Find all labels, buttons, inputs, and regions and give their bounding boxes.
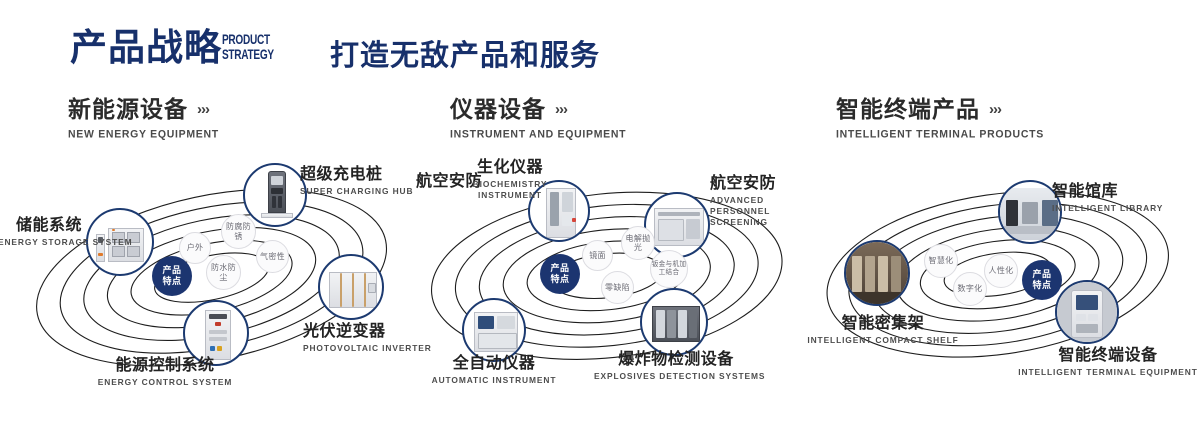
feature-bubble-anticorrosion: 防腐防锈 [221,214,256,249]
feature-bubble-digitalization: 数字化 [953,272,987,306]
poster-header: 产品战略 PRODUCT STRATEGY 打造无敌产品和服务 [0,0,1200,90]
section-title-intelligent-terminal-en: INTELLIGENT TERMINAL PRODUCTS [836,128,1044,141]
label-intelligent-library: 智能馆库 INTELLIGENT LIBRARY [1052,182,1192,214]
feature-bubble-mirror: 镜面 [582,240,613,271]
page-title-english-line2: STRATEGY [222,47,274,62]
page-title: 产品战略 [70,26,222,70]
feature-bubble-humanization: 人性化 [984,254,1018,288]
node-automatic-instrument[interactable] [462,298,526,362]
section-title-new-energy-cn: 新能源设备 [68,96,188,122]
feature-bubble-outdoor: 户外 [179,232,211,264]
feature-bubble-airtight: 气密性 [256,240,289,273]
section-title-new-energy-en: NEW ENERGY EQUIPMENT [68,128,219,141]
label-energy-storage-system: 储能系统 ENERGY STORAGE SYSTEM [0,216,82,248]
chevrons-right-icon: ››› [555,97,567,123]
section-title-instrument-en: INSTRUMENT AND EQUIPMENT [450,128,626,141]
diagram-group-new-energy: 储能系统 ENERGY STORAGE SYSTEM 超级充电桩 SUPER C… [0,150,420,410]
page-subtitle: 打造无敌产品和服务 [330,32,600,74]
energy-control-system-photo [185,302,247,364]
label-intelligent-compact-shelf: 智能密集架 INTELLIGENT COMPACT SHELF [800,314,966,346]
section-title-new-energy: 新能源设备››› NEW ENERGY EQUIPMENT [68,96,219,140]
section-title-instrument: 仪器设备››› INSTRUMENT AND EQUIPMENT [450,96,626,140]
center-badge-intelligent-terminal: 产品 特点 [1022,260,1062,300]
photovoltaic-inverter-photo [320,256,382,318]
explosives-detection-systems-photo [642,290,706,354]
automatic-instrument-photo [464,300,524,360]
node-intelligent-compact-shelf[interactable] [844,240,910,306]
advanced-personnel-screening-photo [646,194,708,256]
feature-bubble-waterproof: 防水防尘 [206,255,241,290]
label-energy-control-system: 能源控制系统 ENERGY CONTROL SYSTEM [25,356,305,388]
label-intelligent-terminal-equipment: 智能终端设备 INTELLIGENT TERMINAL EQUIPMENT [1018,346,1198,378]
node-intelligent-terminal-equipment[interactable] [1055,280,1119,344]
label-biochemistry-instrument: 生化仪器 BIOCHEMISTRY INSTRUMENT [452,158,568,201]
center-badge-new-energy: 产品 特点 [152,256,192,296]
center-badge-instrument: 产品 特点 [540,254,580,294]
page-title-english: PRODUCT STRATEGY [222,32,274,62]
page-title-english-line1: PRODUCT [222,32,274,47]
chevrons-right-icon: ››› [197,97,209,123]
node-explosives-detection-systems[interactable] [640,288,708,356]
section-title-instrument-cn: 仪器设备 [450,96,546,122]
feature-bubble-electropolishing: 电解抛光 [621,226,655,260]
feature-bubble-zero-defect: 零缺陷 [601,271,634,304]
intelligent-library-photo [1000,182,1060,242]
diagram-group-instrument: 航空安防 生化仪器 BIOCHEMISTRY INSTRUMENT 航空安防 A… [400,150,810,410]
section-title-intelligent-terminal: 智能终端产品››› INTELLIGENT TERMINAL PRODUCTS [836,96,1044,140]
label-explosives-detection-systems: 爆炸物检测设备 EXPLOSIVES DETECTION SYSTEMS [594,350,758,382]
intelligent-compact-shelf-photo [846,242,908,304]
node-super-charging-hub[interactable] [243,163,307,227]
feature-bubble-intelligentization: 智慧化 [924,244,958,278]
poster-canvas: 产品战略 PRODUCT STRATEGY 打造无敌产品和服务 新能源设备›››… [0,0,1200,422]
super-charging-hub-photo [245,165,305,225]
label-automatic-instrument: 全自动仪器 AUTOMATIC INSTRUMENT [414,354,574,386]
intelligent-terminal-equipment-photo [1057,282,1117,342]
diagram-group-intelligent-terminal: 智能馆库 INTELLIGENT LIBRARY 智能密集架 INTELLIGE… [800,150,1200,410]
section-title-intelligent-terminal-cn: 智能终端产品 [836,96,980,122]
chevrons-right-icon: ››› [989,97,1001,123]
node-photovoltaic-inverter[interactable] [318,254,384,320]
feature-bubble-sheetmetal-machining: 钣金与机加工结合 [650,250,688,288]
